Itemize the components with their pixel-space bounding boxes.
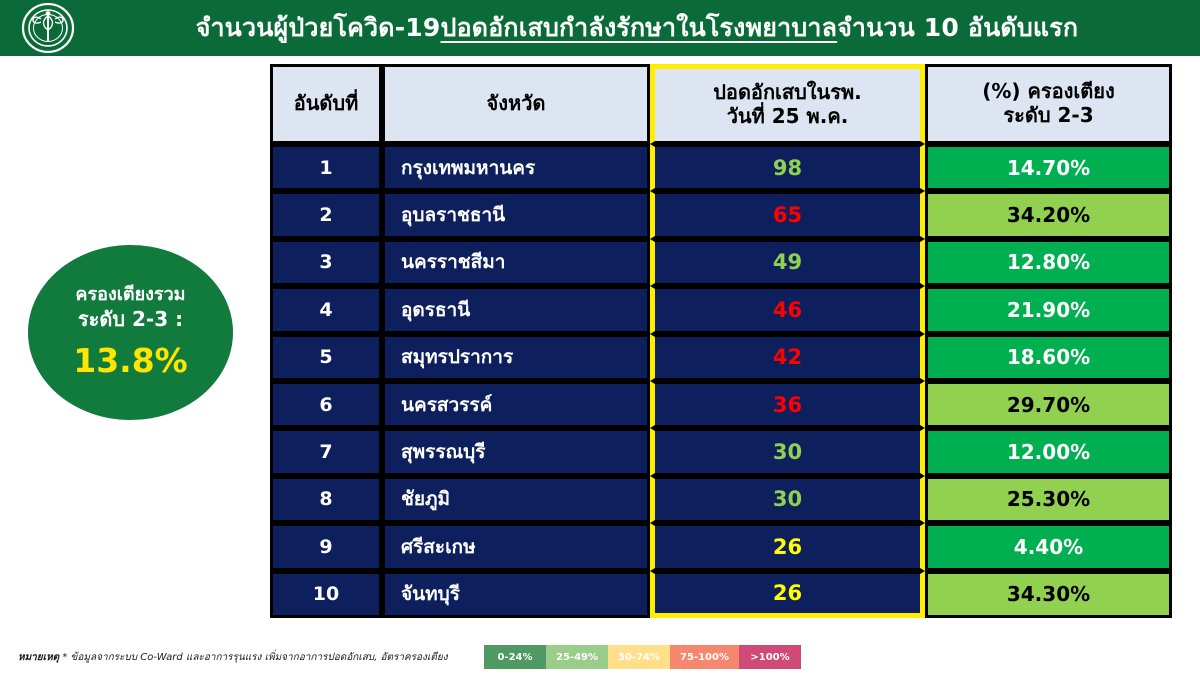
page-title: จำนวนผู้ป่วยโควิด-19 ปอดอักเสบกำลังรักษา… [104,0,1170,56]
cell-rank: 5 [270,334,382,381]
table-row: 5สมุทรปราการ4218.60% [270,334,1172,381]
cell-rank: 4 [270,286,382,333]
cell-pneumonia-count: 36 [650,381,925,428]
cell-province: จันทบุรี [382,571,650,618]
cell-rank: 1 [270,144,382,191]
legend-segment: 25-49% [546,645,608,669]
cell-province: อุดรธานี [382,286,650,333]
cell-pneumonia-count: 49 [650,239,925,286]
column-header-rank: อันดับที่ [270,64,382,144]
title-part-2: จำนวน 10 อันดับแรก [837,8,1078,48]
cell-rank: 10 [270,571,382,618]
table-row: 2อุบลราชธานี6534.20% [270,191,1172,238]
cell-pneumonia-count: 42 [650,334,925,381]
cell-pneumonia-count: 65 [650,191,925,238]
cell-occupancy-percent: 14.70% [925,144,1172,191]
cell-province: ศรีสะเกษ [382,523,650,570]
column-header-pneumonia: ปอดอักเสบในรพ. วันที่ 25 พ.ค. [650,64,925,144]
footnote: หมายเหตุ * ข้อมูลจากระบบ Co-Ward และอากา… [18,650,448,665]
cell-province: สมุทรปราการ [382,334,650,381]
footnote-label: หมายเหตุ [18,652,59,663]
summary-value: 13.8% [73,341,188,381]
table-row: 6นครสวรรค์3629.70% [270,381,1172,428]
column-header-pneumonia-line-2: วันที่ 25 พ.ค. [655,105,920,129]
column-header-pneumonia-line-1: ปอดอักเสบในรพ. [655,81,920,105]
title-part-1: จำนวนผู้ป่วยโควิด-19 [196,8,441,48]
ranking-table-container: อันดับที่ จังหวัด ปอดอักเสบในรพ. วันที่ … [270,64,1172,618]
ranking-table: อันดับที่ จังหวัด ปอดอักเสบในรพ. วันที่ … [270,64,1172,618]
column-header-province: จังหวัด [382,64,650,144]
cell-occupancy-percent: 12.80% [925,239,1172,286]
cell-province: สุพรรณบุรี [382,428,650,475]
cell-occupancy-percent: 25.30% [925,476,1172,523]
legend-segment: 0-24% [484,645,546,669]
cell-rank: 8 [270,476,382,523]
column-header-occupancy: (%) ครองเตียง ระดับ 2-3 [925,64,1172,144]
table-row: 3นครราชสีมา4912.80% [270,239,1172,286]
legend-segment: 75-100% [670,645,739,669]
footnote-text: * ข้อมูลจากระบบ Co-Ward และอาการรุนแรง เ… [62,652,447,663]
cell-pneumonia-count: 30 [650,476,925,523]
table-row: 8ชัยภูมิ3025.30% [270,476,1172,523]
ministry-of-public-health-emblem-icon [12,2,84,54]
cell-pneumonia-count: 98 [650,144,925,191]
cell-province: นครสวรรค์ [382,381,650,428]
cell-occupancy-percent: 12.00% [925,428,1172,475]
table-body: 1กรุงเทพมหานคร9814.70%2อุบลราชธานี6534.2… [270,144,1172,618]
cell-rank: 9 [270,523,382,570]
cell-province: นครราชสีมา [382,239,650,286]
table-row: 4อุดรธานี4621.90% [270,286,1172,333]
table-row: 10จันทบุรี2634.30% [270,571,1172,618]
cell-pneumonia-count: 26 [650,571,925,618]
table-row: 1กรุงเทพมหานคร9814.70% [270,144,1172,191]
cell-rank: 3 [270,239,382,286]
table-row: 7สุพรรณบุรี3012.00% [270,428,1172,475]
column-header-occupancy-line-1: (%) ครองเตียง [928,80,1169,104]
summary-line-2: ระดับ 2-3 : [78,307,183,331]
cell-province: กรุงเทพมหานคร [382,144,650,191]
cell-pneumonia-count: 46 [650,286,925,333]
cell-occupancy-percent: 21.90% [925,286,1172,333]
cell-occupancy-percent: 34.20% [925,191,1172,238]
cell-rank: 6 [270,381,382,428]
slide-root: จำนวนผู้ป่วยโควิด-19 ปอดอักเสบกำลังรักษา… [0,0,1200,675]
column-header-occupancy-line-2: ระดับ 2-3 [928,104,1169,128]
header-bar: จำนวนผู้ป่วยโควิด-19 ปอดอักเสบกำลังรักษา… [0,0,1200,56]
cell-occupancy-percent: 18.60% [925,334,1172,381]
cell-rank: 2 [270,191,382,238]
color-scale-legend: 0-24%25-49%50-74%75-100%>100% [484,645,801,669]
legend-segment: 50-74% [608,645,670,669]
cell-occupancy-percent: 29.70% [925,381,1172,428]
total-bed-occupancy-badge: ครองเตียงรวม ระดับ 2-3 : 13.8% [28,245,233,420]
cell-province: ชัยภูมิ [382,476,650,523]
cell-pneumonia-count: 26 [650,523,925,570]
cell-occupancy-percent: 4.40% [925,523,1172,570]
cell-rank: 7 [270,428,382,475]
table-row: 9ศรีสะเกษ264.40% [270,523,1172,570]
table-header-row: อันดับที่ จังหวัด ปอดอักเสบในรพ. วันที่ … [270,64,1172,144]
legend-segment: >100% [739,645,801,669]
cell-occupancy-percent: 34.30% [925,571,1172,618]
table-header: อันดับที่ จังหวัด ปอดอักเสบในรพ. วันที่ … [270,64,1172,144]
cell-province: อุบลราชธานี [382,191,650,238]
summary-line-1: ครองเตียงรวม [75,284,185,306]
cell-pneumonia-count: 30 [650,428,925,475]
title-underlined-part: ปอดอักเสบกำลังรักษาในโรงพยาบาล [441,8,838,48]
